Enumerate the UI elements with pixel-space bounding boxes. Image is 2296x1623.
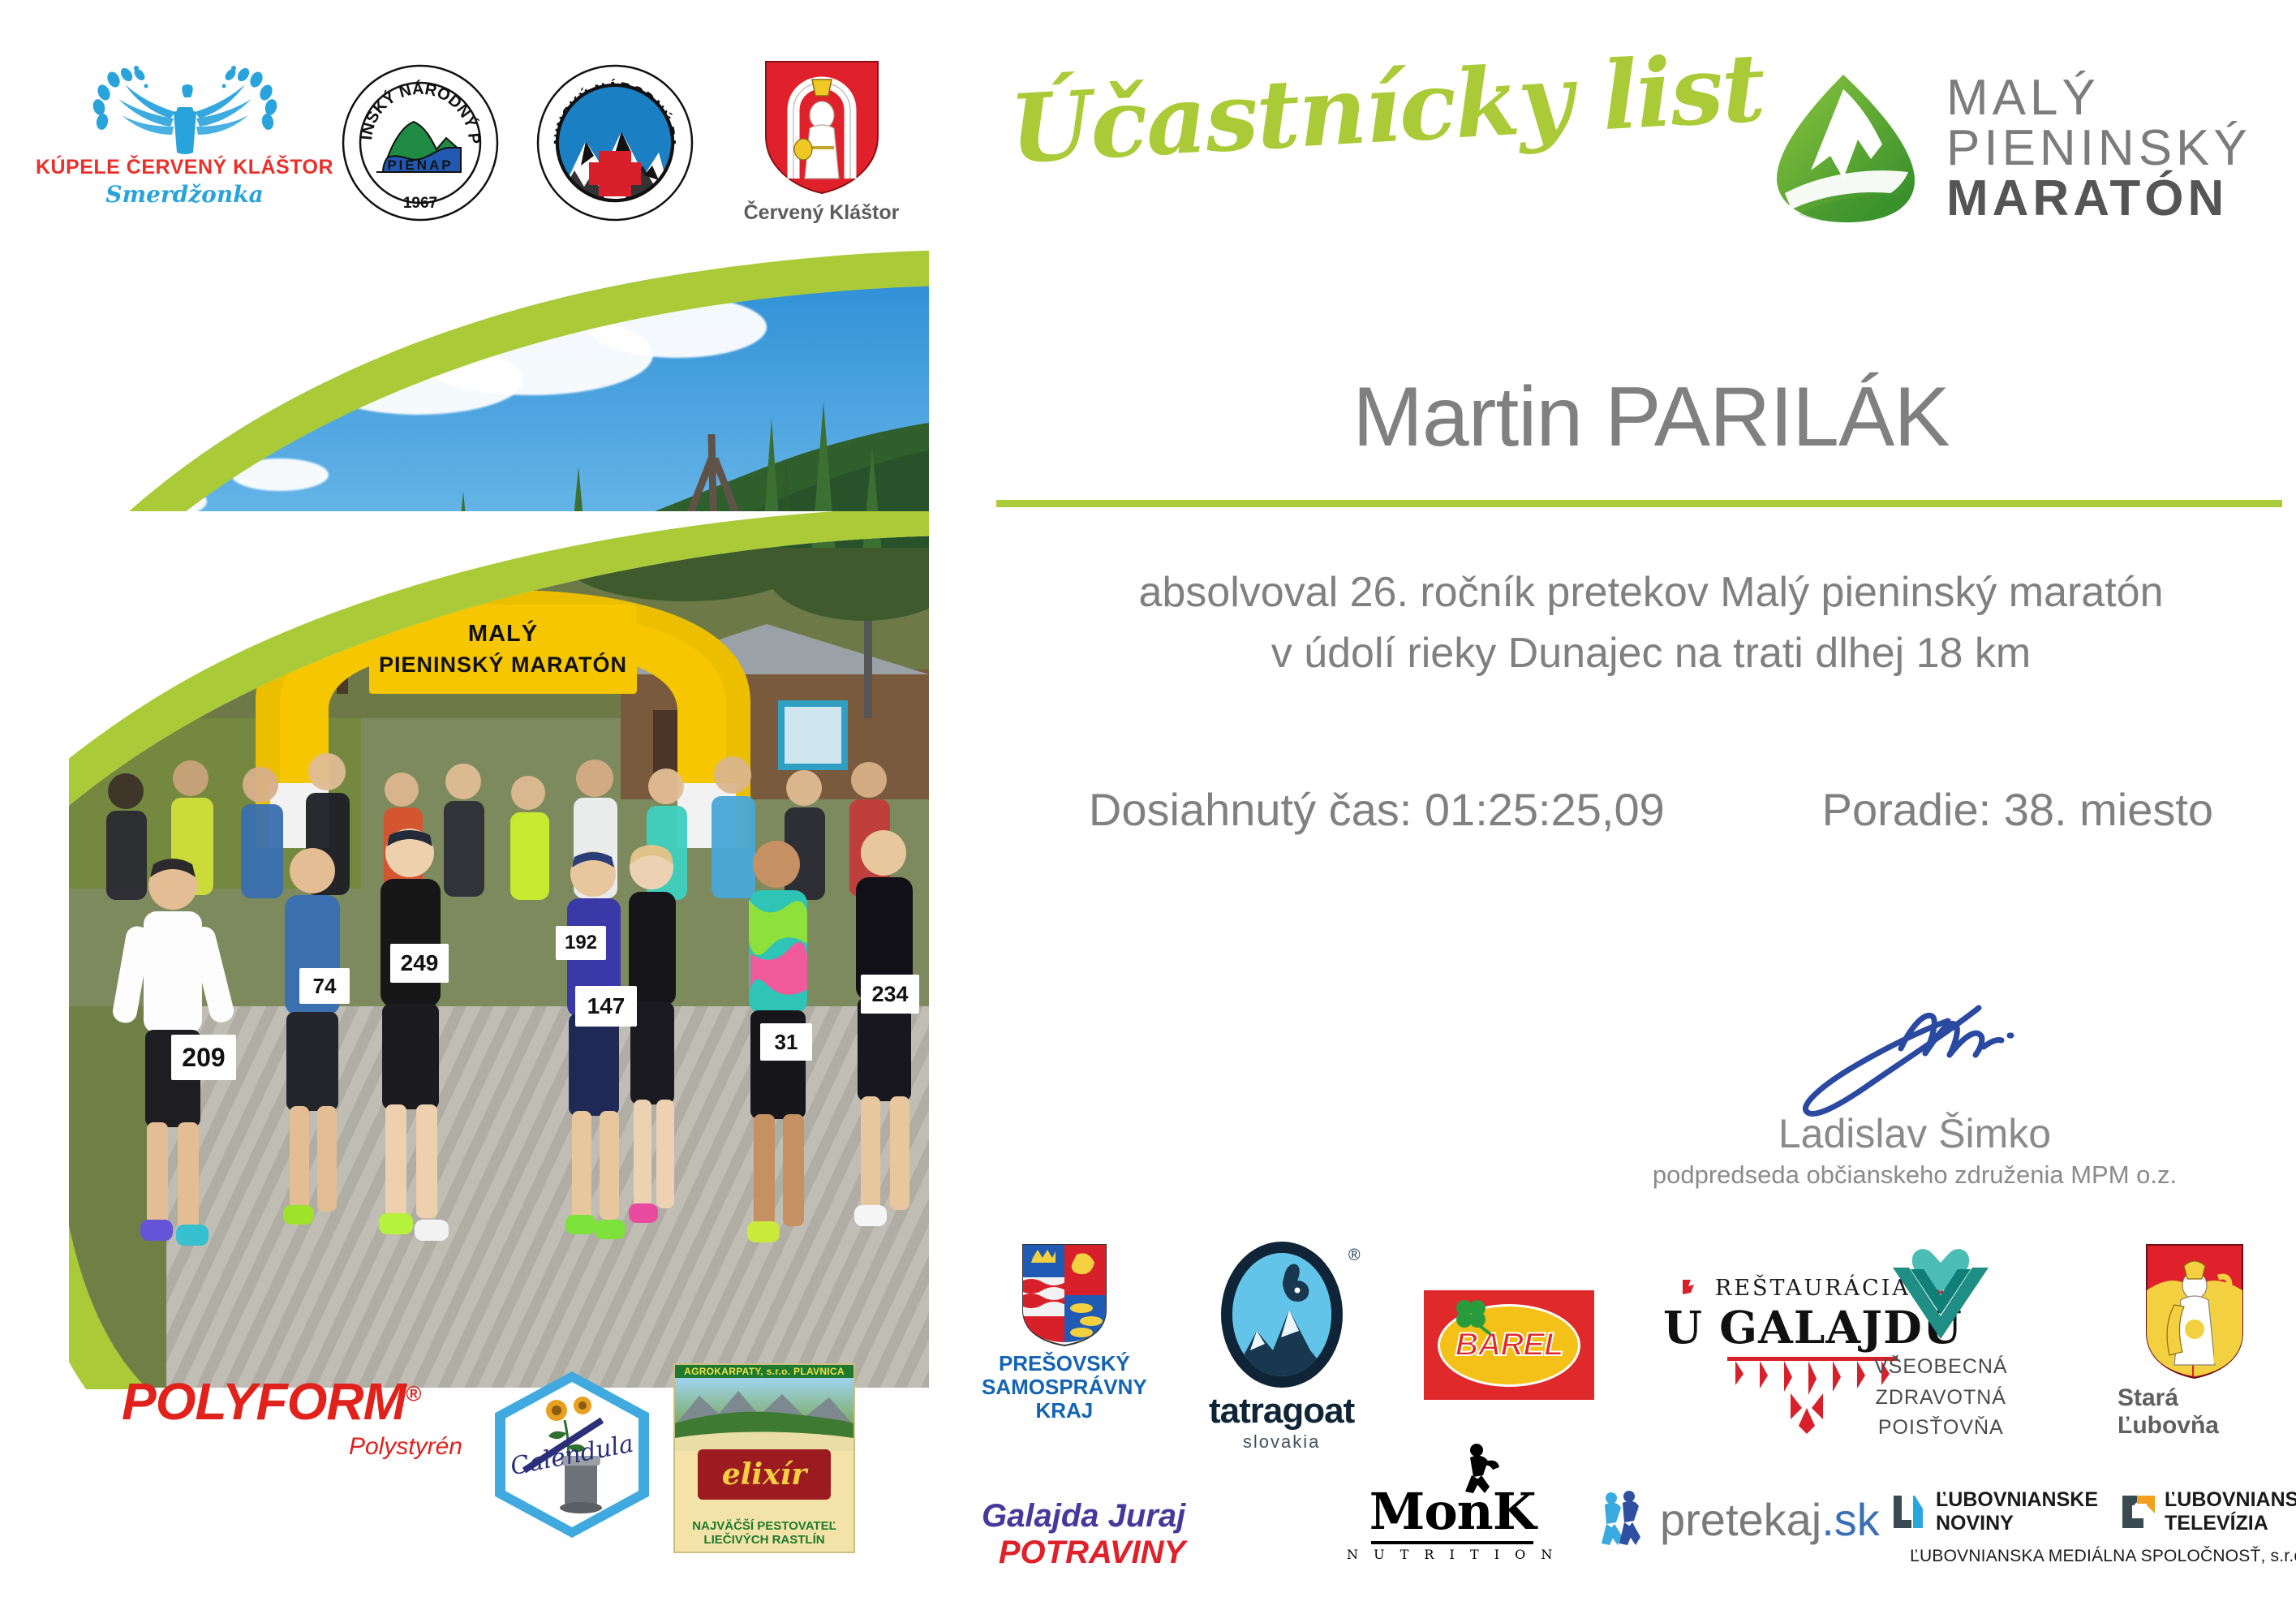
lt-mark-icon <box>2119 1492 2158 1531</box>
sponsor-agrokarpaty-elixir: AGROKARPATY, s.r.o. PLAVNICA elixír NAJV… <box>673 1363 855 1553</box>
top-logo-strip: KÚPELE ČERVENÝ KLÁŠTOR Smerdžonka PIENIN… <box>0 0 957 268</box>
arch-banner: MALÝ PIENINSKÝ MARATÓN <box>369 605 637 694</box>
lms-footer: ĽUBOVNIANSKA MEDIÁLNA SPOLOČNOSŤ, s.r.o. <box>1910 1547 2296 1566</box>
mountain-leaf-logo-icon <box>1769 71 1919 226</box>
bib-number: 192 <box>556 926 606 960</box>
sponsor-barel: BAREL <box>1424 1290 1594 1400</box>
stara-lubovna-crest-icon <box>2142 1242 2247 1380</box>
brand-line-1: MALÝ <box>1946 73 2251 123</box>
logo-pieninsky-narodny-park: PIENINSKÝ NÁRODNÝ PARK PIENAP 1967 <box>341 63 500 222</box>
polyform-subtitle: Polystyrén <box>122 1433 462 1461</box>
vzp-line-3: POISŤOVŇA <box>1874 1413 2008 1444</box>
logo-cerveny-klastor-crest: Červený Kláštor <box>750 58 892 229</box>
registered-mark-icon: ® <box>406 1382 420 1406</box>
sponsor-galajda-juraj: Galajda Juraj POTRAVINY <box>982 1498 1185 1571</box>
agrokarpaty-tagline-2: LIEČIVÝCH RASTLÍN <box>675 1533 853 1547</box>
kupele-title: KÚPELE ČERVENÝ KLÁŠTOR <box>36 156 333 179</box>
kupele-subtitle: Smerdžonka <box>105 181 263 208</box>
signatory-role: podpredseda občianskeho združenia MPM o.… <box>1647 1160 2182 1190</box>
polyform-wordmark: POLYFORM® <box>122 1371 462 1431</box>
crest-label: Červený Kláštor <box>744 201 900 225</box>
tatragoat-wordmark: tatragoat <box>1209 1391 1354 1431</box>
four-leaf-clover-icon <box>1450 1297 1492 1337</box>
svg-text:PIENAP: PIENAP <box>387 157 453 173</box>
folk-pattern-icon <box>1727 1361 1898 1434</box>
brand-logo-maly-pieninsky-maraton: MALÝ PIENINSKÝ MARATÓN <box>1769 69 2264 227</box>
vzp-chevron-icon <box>1888 1248 1993 1345</box>
registered-mark-icon: ® <box>1348 1246 1361 1265</box>
logo-kupele-cerveny-klastor: KÚPELE ČERVENÝ KLÁŠTOR Smerdžonka <box>77 65 292 227</box>
ln-line-1: ĽUBOVNIANSKE <box>1936 1488 2098 1512</box>
folk-ornament-icon <box>1679 1278 1704 1299</box>
galajda-subtitle: POTRAVINY <box>999 1535 1185 1571</box>
sponsor-presovsky-samospravny-kraj: PREŠOVSKÝ SAMOSPRÁVNY KRAJ <box>982 1242 1147 1423</box>
vzp-line-2: ZDRAVOTNÁ <box>1874 1383 2008 1414</box>
elixir-brand: elixír <box>698 1449 831 1500</box>
crest-shield-icon <box>761 58 883 196</box>
polyform-name: POLYFORM <box>122 1372 406 1431</box>
two-runners-icon <box>1598 1490 1647 1548</box>
result-row: Dosiahnutý čas: 01:25:25,09 Poradie: 38.… <box>1010 783 2292 836</box>
certificate-body-line-2: v údolí rieky Dunajec na trati dlhej 18 … <box>1010 629 2292 678</box>
arch-banner-line-1: MALÝ <box>468 621 538 648</box>
pretekaj-tld: .sk <box>1821 1494 1880 1545</box>
agrokarpaty-landscape <box>675 1378 853 1451</box>
ln-line-2: NOVINY <box>1936 1512 2098 1535</box>
tatragoat-emblem-icon <box>1221 1242 1343 1388</box>
logo-horska-sluzba: PIENINSKÝ NÁRODNÝ PARK HORSKÁ SLUŽBA <box>535 63 694 222</box>
agrokarpaty-title: AGROKARPATY, s.r.o. PLAVNICA <box>675 1365 853 1378</box>
brand-line-3: MARATÓN <box>1946 174 2251 224</box>
agrokarpaty-tagline: NAJVÄČŠÍ PESTOVATEĽ LIEČIVÝCH RASTLÍN <box>675 1519 853 1548</box>
sponsor-stara-lubovna: Stará Ľubovňa <box>2118 1242 2272 1440</box>
result-placement: Poradie: 38. miesto <box>1822 783 2213 836</box>
pretekaj-wordmark: pretekaj.sk <box>1660 1493 1880 1546</box>
water-angel-icon <box>89 65 280 154</box>
bib-number: 74 <box>299 968 350 1004</box>
result-time: Dosiahnutý čas: 01:25:25,09 <box>1089 783 1665 836</box>
pretekaj-name: pretekaj <box>1660 1494 1821 1545</box>
page-title: Účastnícky list <box>1007 34 1742 188</box>
psk-crest-icon <box>1020 1242 1109 1347</box>
stara-lubovna-label: Stará Ľubovňa <box>2118 1384 2272 1440</box>
sponsor-monk-nutrition: MonK N U T R I T I O N <box>1347 1482 1558 1562</box>
sponsor-lubovnianska-medialna-spolocnost: ĽUBOVNIANSKE NOVINY ĽUBOVNIANSKA TELEVÍZ… <box>1890 1488 2296 1566</box>
tatragoat-subtitle: slovakia <box>1243 1431 1320 1453</box>
bib-number: 147 <box>575 986 637 1027</box>
psk-line-1: PREŠOVSKÝ <box>982 1352 1147 1375</box>
monk-subtitle: N U T R I T I O N <box>1347 1547 1558 1562</box>
sponsor-pretekaj-sk: pretekaj.sk <box>1598 1490 1880 1548</box>
sponsor-row-secondary: Galajda Juraj POTRAVINY MonK N U T R I T… <box>982 1477 2272 1607</box>
sponsor-row-primary: PREŠOVSKÝ SAMOSPRÁVNY KRAJ <box>982 1242 2272 1461</box>
bib-number: 31 <box>760 1023 812 1061</box>
name-divider-rule <box>996 500 2282 507</box>
race-start-photo: MALÝ PIENINSKÝ MARATÓN <box>69 548 929 1388</box>
certificate-body-line-1: absolvoval 26. ročník pretekov Malý pien… <box>1010 568 2292 617</box>
monk-wordmark: MonK <box>1369 1482 1536 1541</box>
ln-mark-icon <box>1890 1492 1929 1531</box>
svg-text:1967: 1967 <box>403 195 437 212</box>
psk-line-2: SAMOSPRÁVNY <box>982 1375 1147 1399</box>
participant-name: Martin PARILÁK <box>1010 369 2292 466</box>
signatory-name: Ladislav Šimko <box>1647 1110 2182 1157</box>
agrokarpaty-tagline-1: NAJVÄČŠÍ PESTOVATEĽ <box>675 1519 853 1533</box>
bib-number: 249 <box>390 944 449 983</box>
psk-label: PREŠOVSKÝ SAMOSPRÁVNY KRAJ <box>982 1352 1147 1423</box>
sponsor-vseobecna-zdravotna-poistovna: VŠEOBECNÁ ZDRAVOTNÁ POISŤOVŇA <box>1874 1248 2008 1444</box>
arch-banner-line-2: PIENINSKÝ MARATÓN <box>379 652 627 678</box>
brand-line-2: PIENINSKÝ <box>1946 123 2251 174</box>
sponsor-calendula: Calendula <box>495 1371 649 1538</box>
handwritten-signature-icon <box>1781 998 2049 1120</box>
barel-logo-icon: BAREL <box>1424 1290 1594 1400</box>
lubovnianske-noviny-label: ĽUBOVNIANSKE NOVINY <box>1936 1488 2098 1535</box>
sponsor-tatragoat: ® tatragoat slovakia <box>1209 1242 1354 1453</box>
signature-block: Ladislav Šimko podpredseda občianskeho z… <box>1647 998 2182 1190</box>
lubovnianska-televizia-label: ĽUBOVNIANSKA TELEVÍZIA <box>2165 1488 2296 1535</box>
galajda-name: Galajda Juraj <box>982 1498 1185 1535</box>
vzp-label: VŠEOBECNÁ ZDRAVOTNÁ POISŤOVŇA <box>1874 1352 2008 1444</box>
lt-line-2: TELEVÍZIA <box>2165 1512 2296 1535</box>
vzp-line-1: VŠEOBECNÁ <box>1874 1352 2008 1383</box>
runner-silhouette-icon <box>1454 1443 1503 1493</box>
bib-number: 234 <box>861 975 919 1014</box>
bib-number: 209 <box>171 1035 236 1080</box>
sponsor-polyform: POLYFORM® Polystyrén <box>122 1371 462 1469</box>
psk-line-3: KRAJ <box>982 1399 1147 1423</box>
lt-line-1: ĽUBOVNIANSKA <box>2165 1488 2296 1512</box>
